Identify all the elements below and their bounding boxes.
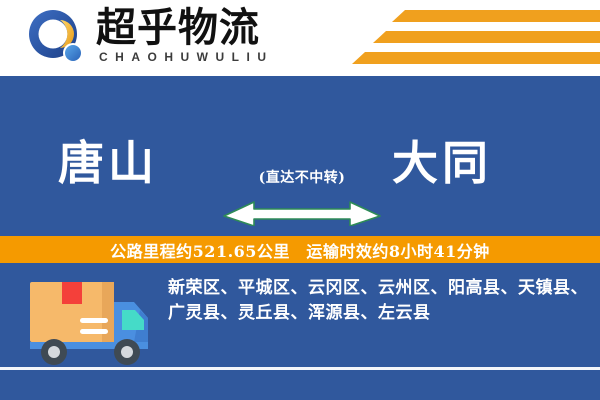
header-stripe-1: [392, 10, 600, 22]
road-line: [0, 367, 600, 370]
coverage-line-1: 新荣区、平城区、云冈区、云州区、阳高县、天镇县、: [168, 276, 588, 301]
coverage-line-2: 广灵县、灵丘县、浑源县、左云县: [168, 301, 588, 326]
route-middle: (直达不中转) 【往返运输】: [222, 126, 382, 226]
distance-duration-text: 公路里程约521.65公里 运输时效约8小时41分钟: [110, 238, 490, 262]
brand-name-cn: 超乎物流: [96, 6, 260, 50]
header-stripe-3: [352, 52, 600, 64]
distance-duration-bar: 公路里程约521.65公里 运输时效约8小时41分钟: [0, 236, 600, 263]
logistics-route-banner: 超乎物流 CHAOHUWULIU 唐山 (直达不中转) 【往返运输】 大同: [0, 0, 600, 400]
delivery-truck-icon: [22, 274, 162, 374]
direct-service-note: (直达不中转): [222, 167, 382, 187]
banner-header: 超乎物流 CHAOHUWULIU: [0, 0, 600, 76]
destination-city: 大同: [392, 134, 492, 192]
header-stripe-2: [373, 31, 600, 43]
circle-crescent-logo-icon: [26, 8, 88, 70]
route-row: 唐山 (直达不中转) 【往返运输】 大同: [0, 126, 600, 226]
brand-name-pinyin: CHAOHUWULIU: [99, 50, 274, 64]
banner-body: 唐山 (直达不中转) 【往返运输】 大同 公路里程约521.65公里 运输时效约…: [0, 76, 600, 400]
origin-city: 唐山: [58, 134, 158, 192]
double-headed-arrow-icon: [222, 194, 382, 226]
coverage-district-list: 新荣区、平城区、云冈区、云州区、阳高县、天镇县、 广灵县、灵丘县、浑源县、左云县: [168, 276, 588, 326]
